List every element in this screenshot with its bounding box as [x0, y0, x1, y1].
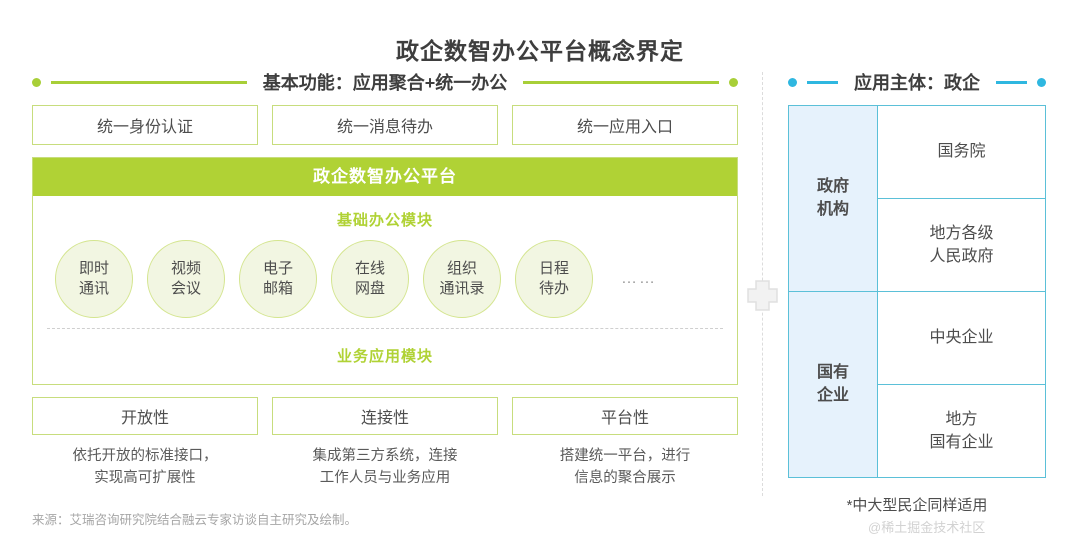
organization-item-line1: 地方	[945, 408, 977, 431]
capability-box-row: 统一身份认证 统一消息待办 统一应用入口	[32, 105, 738, 145]
feature-box-row: 开放性 连接性 平台性	[32, 397, 738, 435]
module-circle-line2: 通讯	[79, 279, 109, 299]
organization-item: 地方各级 人民政府	[878, 199, 1045, 291]
capability-box: 统一身份认证	[32, 105, 258, 145]
feature-description-line1: 集成第三方系统，连接	[272, 445, 498, 467]
left-subheader-label: 基本功能：应用聚合+统一办公	[257, 69, 514, 95]
capability-box: 统一消息待办	[272, 105, 498, 145]
feature-description-line1: 搭建统一平台，进行	[512, 445, 738, 467]
rule-line-right	[996, 81, 1027, 84]
organization-group-label-line1: 国有	[817, 362, 849, 384]
module-circle: 即时 通讯	[55, 240, 133, 318]
organization-group-label: 政府 机构	[789, 106, 878, 291]
source-note: 来源：艾瑞咨询研究院结合融云专家访谈自主研究及绘制。	[32, 509, 357, 528]
module-circle-line2: 待办	[539, 279, 569, 299]
organization-item-line2: 人民政府	[929, 245, 993, 268]
bullet-dot-left-icon	[32, 78, 41, 87]
page-title: 政企数智办公平台概念界定	[0, 32, 1080, 66]
module-circle-line2: 邮箱	[263, 279, 293, 299]
module-circle-row: 即时 通讯 视频 会议 电子 邮箱 在线 网盘 组织 通讯录	[33, 230, 737, 324]
applicability-note: *中大型民企同样适用	[788, 494, 1046, 515]
feature-description: 集成第三方系统，连接 工作人员与业务应用	[272, 445, 498, 490]
organization-item: 地方 国有企业	[878, 385, 1045, 477]
organization-item-list: 中央企业 地方 国有企业	[878, 292, 1045, 477]
organization-table: 政府 机构 国务院 地方各级 人民政府 国有 企业	[788, 105, 1046, 478]
watermark: @稀土掘金技术社区	[868, 517, 985, 536]
bullet-dot-left-icon	[788, 78, 797, 87]
feature-description-line1: 依托开放的标准接口，	[32, 445, 258, 467]
module-circle-line1: 即时	[79, 259, 109, 279]
module-circle-line2: 网盘	[355, 279, 385, 299]
feature-box: 平台性	[512, 397, 738, 435]
organization-item: 国务院	[878, 106, 1045, 199]
right-subheader: 应用主体：政企	[788, 68, 1046, 96]
organization-item-list: 国务院 地方各级 人民政府	[878, 106, 1045, 291]
module-circle: 日程 待办	[515, 240, 593, 318]
bullet-dot-right-icon	[729, 78, 738, 87]
organization-group: 国有 企业 中央企业 地方 国有企业	[789, 292, 1045, 477]
infographic-page: 政企数智办公平台概念界定 基本功能：应用聚合+统一办公 统一身份认证 统一消息待…	[0, 0, 1080, 543]
feature-description-line2: 实现高可扩展性	[32, 467, 258, 489]
organization-group-label-line1: 政府	[817, 176, 849, 198]
feature-description: 依托开放的标准接口， 实现高可扩展性	[32, 445, 258, 490]
organization-item-line1: 国务院	[937, 140, 985, 163]
right-subheader-label: 应用主体：政企	[848, 69, 986, 95]
rule-line-left	[51, 81, 247, 84]
feature-description: 搭建统一平台，进行 信息的聚合展示	[512, 445, 738, 490]
module-circle-line1: 电子	[263, 259, 293, 279]
organization-item-line2: 国有企业	[929, 431, 993, 454]
feature-box: 开放性	[32, 397, 258, 435]
organization-item-line1: 地方各级	[929, 222, 993, 245]
module-circle-line1: 视频	[171, 259, 201, 279]
organization-item: 中央企业	[878, 292, 1045, 385]
feature-description-line2: 信息的聚合展示	[512, 467, 738, 489]
module-circle-line1: 在线	[355, 259, 385, 279]
rule-line-right	[523, 81, 719, 84]
module-ellipsis: ……	[621, 270, 657, 288]
cross-separator-icon	[745, 278, 780, 313]
organization-item-line1: 中央企业	[929, 326, 993, 349]
module-circle-line2: 会议	[171, 279, 201, 299]
left-subheader: 基本功能：应用聚合+统一办公	[32, 68, 738, 96]
module-circle-line2: 通讯录	[439, 279, 484, 299]
feature-description-line2: 工作人员与业务应用	[272, 467, 498, 489]
feature-description-row: 依托开放的标准接口， 实现高可扩展性 集成第三方系统，连接 工作人员与业务应用 …	[32, 445, 738, 490]
bullet-dot-right-icon	[1037, 78, 1046, 87]
organization-group: 政府 机构 国务院 地方各级 人民政府	[789, 106, 1045, 292]
organization-group-label-line2: 企业	[817, 385, 849, 407]
module-circle: 组织 通讯录	[423, 240, 501, 318]
organization-group-label-line2: 机构	[817, 199, 849, 221]
module-circle-line1: 日程	[539, 259, 569, 279]
module-circle-line1: 组织	[447, 259, 477, 279]
business-module-title: 业务应用模块	[33, 329, 737, 384]
module-circle: 视频 会议	[147, 240, 225, 318]
basic-module-title: 基础办公模块	[33, 196, 737, 230]
module-circle: 电子 邮箱	[239, 240, 317, 318]
left-panel: 基本功能：应用聚合+统一办公 统一身份认证 统一消息待办 统一应用入口 政企数智…	[32, 68, 738, 490]
rule-line-left	[807, 81, 838, 84]
organization-group-label: 国有 企业	[789, 292, 878, 477]
module-circle: 在线 网盘	[331, 240, 409, 318]
capability-box: 统一应用入口	[512, 105, 738, 145]
platform-card: 政企数智办公平台 基础办公模块 即时 通讯 视频 会议 电子 邮箱 在线 网盘	[32, 157, 738, 385]
feature-box: 连接性	[272, 397, 498, 435]
right-panel: 应用主体：政企 政府 机构 国务院 地方各级 人民政府	[788, 68, 1046, 515]
platform-bar-label: 政企数智办公平台	[33, 158, 737, 196]
